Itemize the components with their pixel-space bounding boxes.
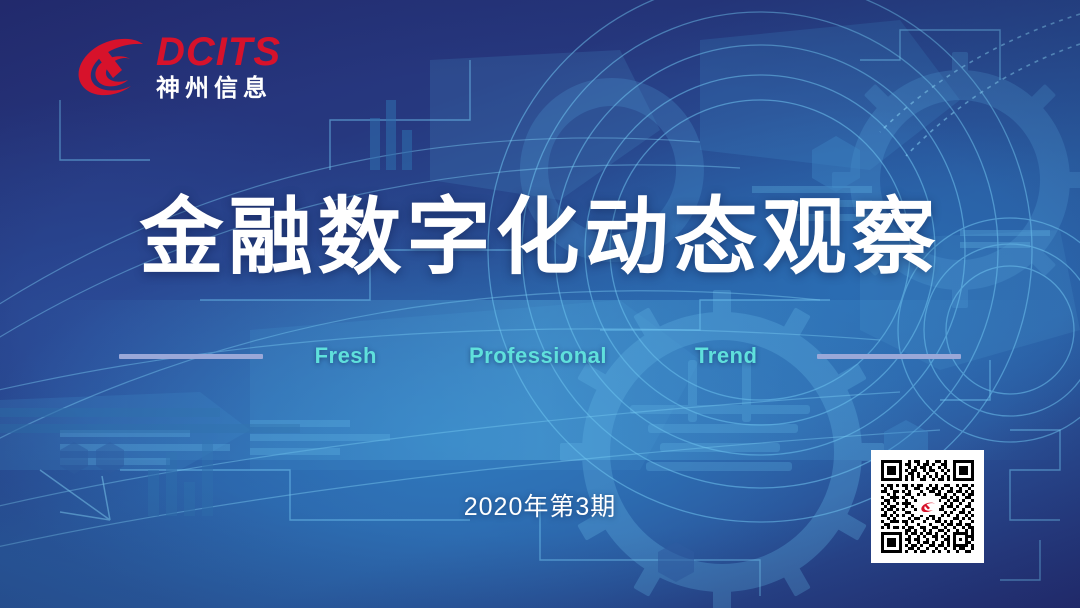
decorative-rule-right [817, 354, 961, 359]
qr-code-canvas [878, 457, 977, 556]
tagline-word-fresh: Fresh [315, 343, 377, 369]
logo-name-en: DCITS [156, 30, 306, 74]
logo-name-cn: 神州信息 [156, 74, 306, 104]
slide-title: 金融数字化动态观察 [0, 182, 1080, 292]
swoosh-spiral-icon [72, 34, 150, 106]
qr-code[interactable] [871, 450, 984, 563]
logo-wordmark: DCITS 神州信息 [156, 30, 306, 104]
brand-logo: DCITS 神州信息 [72, 30, 302, 112]
presentation-slide: DCITS 神州信息 金融数字化动态观察 Fresh Professional … [0, 0, 1080, 608]
dcits-mark-icon [920, 502, 936, 512]
tagline-word-trend: Trend [695, 343, 757, 369]
tagline-row: Fresh Professional Trend [0, 338, 1080, 374]
tagline-word-professional: Professional [469, 343, 607, 369]
decorative-rule-left [119, 354, 263, 359]
qr-center-logo [917, 499, 939, 515]
